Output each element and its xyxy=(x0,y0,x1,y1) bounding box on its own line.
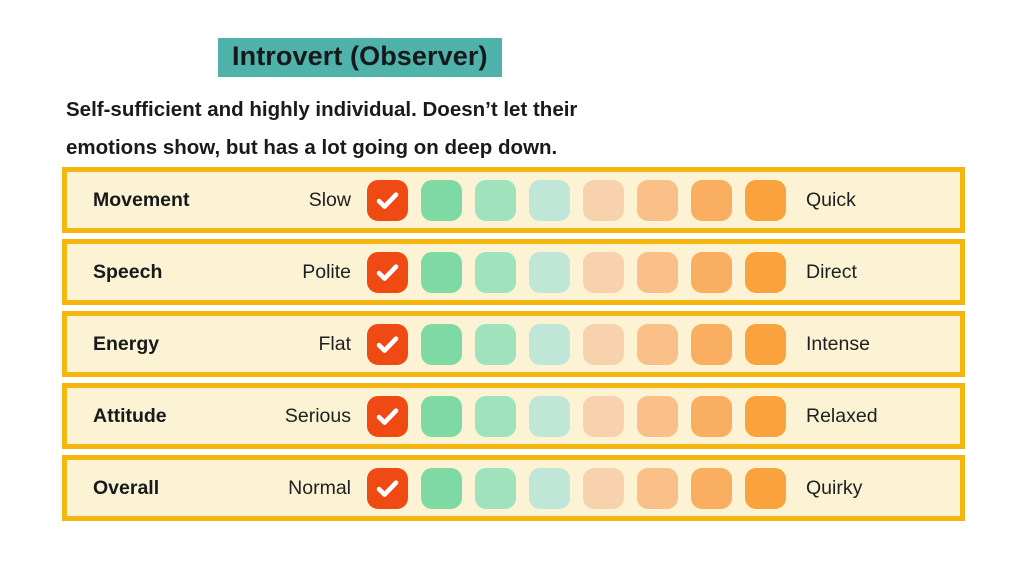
scale-option[interactable] xyxy=(475,468,516,509)
check-icon xyxy=(374,403,401,430)
trait-row: EnergyFlatIntense xyxy=(62,311,965,377)
trait-label: Speech xyxy=(67,261,257,284)
scale-option[interactable] xyxy=(637,396,678,437)
trait-label: Attitude xyxy=(67,405,257,428)
scale-option[interactable] xyxy=(691,324,732,365)
check-icon xyxy=(374,331,401,358)
scale-option[interactable] xyxy=(637,324,678,365)
scale-track xyxy=(367,468,786,509)
trait-row: AttitudeSeriousRelaxed xyxy=(62,383,965,449)
trait-row: MovementSlowQuick xyxy=(62,167,965,233)
scale-right-term: Relaxed xyxy=(786,405,960,428)
scale-option[interactable] xyxy=(691,252,732,293)
scale-track xyxy=(367,324,786,365)
scale-option[interactable] xyxy=(637,180,678,221)
scale-option[interactable] xyxy=(583,324,624,365)
scale-right-term: Quick xyxy=(786,189,960,212)
subtitle-line-1: Self-sufficient and highly individual. D… xyxy=(66,91,746,129)
scale-option[interactable] xyxy=(583,252,624,293)
personality-scale-card: Introvert (Observer) Self-sufficient and… xyxy=(0,0,1024,576)
trait-label: Movement xyxy=(67,189,257,212)
scale-option[interactable] xyxy=(421,468,462,509)
scale-option[interactable] xyxy=(583,468,624,509)
scale-option[interactable] xyxy=(529,396,570,437)
scale-option[interactable] xyxy=(475,252,516,293)
scale-track xyxy=(367,396,786,437)
scale-option[interactable] xyxy=(745,324,786,365)
scale-option[interactable] xyxy=(691,180,732,221)
trait-row: OverallNormalQuirky xyxy=(62,455,965,521)
scale-option[interactable] xyxy=(745,180,786,221)
scale-left-term: Polite xyxy=(257,261,367,284)
scale-option[interactable] xyxy=(421,324,462,365)
scale-option[interactable] xyxy=(529,252,570,293)
scale-option[interactable] xyxy=(529,180,570,221)
title-container: Introvert (Observer) xyxy=(0,38,1024,77)
scale-option[interactable] xyxy=(475,396,516,437)
scale-right-term: Quirky xyxy=(786,477,960,500)
scale-option[interactable] xyxy=(583,396,624,437)
scale-option[interactable] xyxy=(529,468,570,509)
scale-track xyxy=(367,180,786,221)
scale-option[interactable] xyxy=(529,324,570,365)
trait-label: Energy xyxy=(67,333,257,356)
scale-option[interactable] xyxy=(637,252,678,293)
scale-option-selected[interactable] xyxy=(367,468,408,509)
page-title: Introvert (Observer) xyxy=(218,38,502,77)
scale-option[interactable] xyxy=(745,252,786,293)
trait-label: Overall xyxy=(67,477,257,500)
subtitle-line-2: emotions show, but has a lot going on de… xyxy=(66,129,746,167)
card-header: Introvert (Observer) Self-sufficient and… xyxy=(0,0,1024,167)
scale-option[interactable] xyxy=(475,324,516,365)
scale-option[interactable] xyxy=(745,396,786,437)
scale-option[interactable] xyxy=(475,180,516,221)
trait-scale-table: MovementSlowQuickSpeechPoliteDirectEnerg… xyxy=(62,167,965,521)
scale-option[interactable] xyxy=(691,396,732,437)
scale-left-term: Normal xyxy=(257,477,367,500)
scale-option-selected[interactable] xyxy=(367,252,408,293)
scale-right-term: Intense xyxy=(786,333,960,356)
scale-track xyxy=(367,252,786,293)
scale-left-term: Serious xyxy=(257,405,367,428)
check-icon xyxy=(374,475,401,502)
scale-left-term: Slow xyxy=(257,189,367,212)
scale-option[interactable] xyxy=(583,180,624,221)
scale-right-term: Direct xyxy=(786,261,960,284)
scale-option[interactable] xyxy=(421,252,462,293)
scale-option[interactable] xyxy=(421,396,462,437)
scale-option[interactable] xyxy=(691,468,732,509)
check-icon xyxy=(374,259,401,286)
check-icon xyxy=(374,187,401,214)
scale-option[interactable] xyxy=(421,180,462,221)
scale-option[interactable] xyxy=(745,468,786,509)
scale-option[interactable] xyxy=(637,468,678,509)
subtitle-description: Self-sufficient and highly individual. D… xyxy=(0,91,746,167)
trait-row: SpeechPoliteDirect xyxy=(62,239,965,305)
scale-option-selected[interactable] xyxy=(367,180,408,221)
scale-option-selected[interactable] xyxy=(367,396,408,437)
scale-option-selected[interactable] xyxy=(367,324,408,365)
scale-left-term: Flat xyxy=(257,333,367,356)
